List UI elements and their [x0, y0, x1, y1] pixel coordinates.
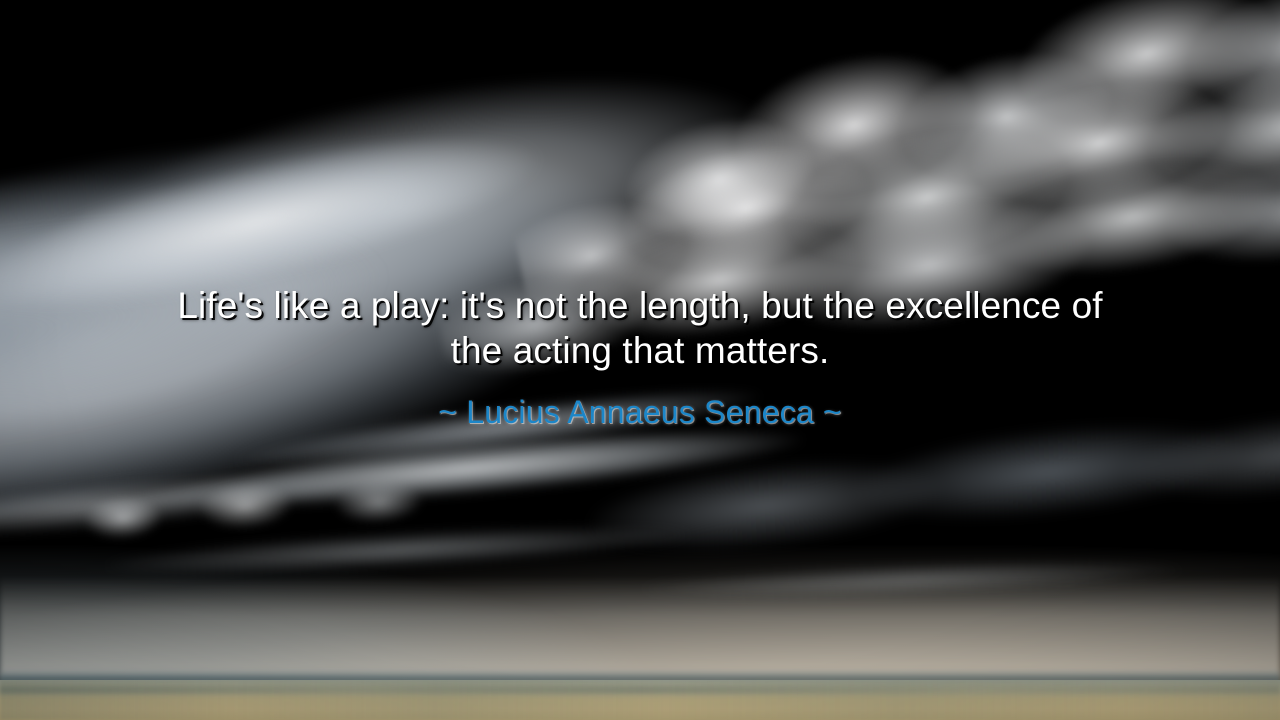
quote-wallpaper: Life's like a play: it's not the length,…	[0, 0, 1280, 720]
quote-text: Life's like a play: it's not the length,…	[60, 283, 1220, 373]
atmospheric-haze	[0, 576, 1280, 677]
ground-shadow-strip	[0, 686, 1280, 694]
quote-block: Life's like a play: it's not the length,…	[0, 283, 1280, 431]
quote-author: ~ Lucius Annaeus Seneca ~	[60, 393, 1220, 431]
